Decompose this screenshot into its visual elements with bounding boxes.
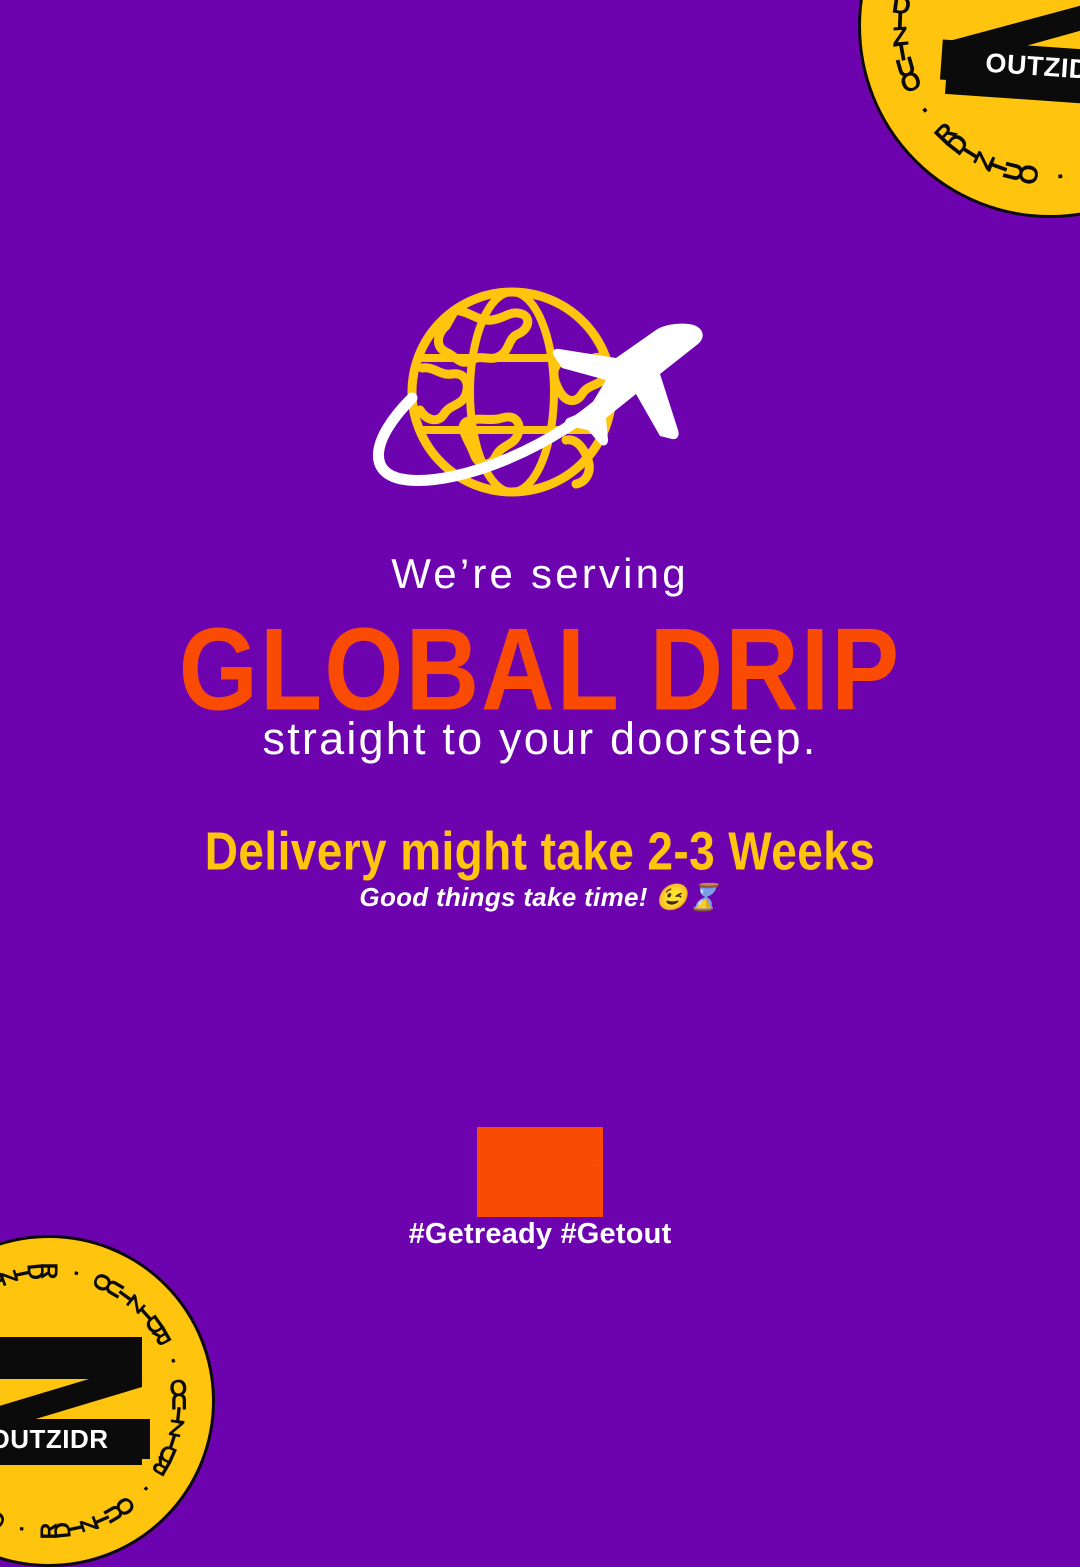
badge-ring-char: R [36,1263,63,1280]
globe-with-airplane-icon [360,270,720,520]
badge-z-mark: OUTZIDR [945,0,1080,108]
eyebrow-text: We’re serving [0,552,1080,596]
badge-ring-char: · [8,1522,36,1535]
badge-center-word: OUTZIDR [0,1419,150,1459]
badge-z-mark: OUTZIDR [0,1337,142,1465]
headline-text: GLOBAL DRIP [0,612,1080,729]
outzidr-z-logo [477,1127,603,1217]
badge-ring-char: · [134,1475,158,1500]
badge-ring-char: · [165,1347,181,1375]
z-logo-icon [477,1127,603,1217]
subhead-text: straight to your doorstep. [0,714,1080,764]
delivery-note: Good things take time! 😉⌛ [0,882,1080,913]
outzidr-badge-bottom-left: OUTZIDR·OUTZIDR·OUTZIDR·OUTZIDR·OUTZIDR·… [0,1235,215,1567]
badge-ring-char: · [913,95,938,126]
badge-ring-char: R [36,1523,63,1540]
badge-center-mark: OUTZIDR [0,1337,142,1465]
hero-illustration [0,270,1080,520]
z-top-bar [952,0,1080,5]
badge-ring-char: · [62,1267,90,1280]
badge-ring-char: · [1045,170,1077,181]
badge-center-mark: OUTZIDR [945,0,1080,108]
airplane-icon [553,324,703,446]
outzidr-badge-top-right: OUTZIDR·OUTZIDR·OUTZIDR·OUTZIDR·OUTZIDR·… [858,0,1080,218]
footer-hashtags: #Getready #Getout [0,1218,1080,1251]
delivery-notice: Delivery might take 2-3 Weeks [0,822,1080,881]
